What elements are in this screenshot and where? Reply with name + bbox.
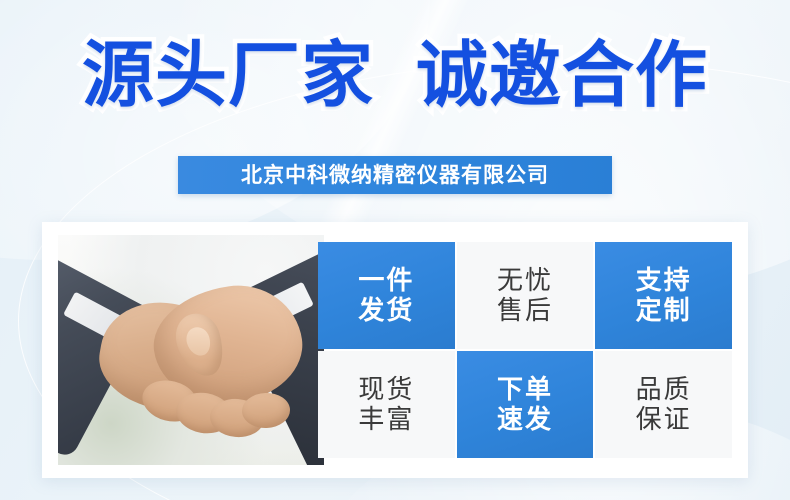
feature-cell-4[interactable]: 现货 丰富 [318,351,455,458]
feature-cell-5-line1: 下单 [497,375,553,404]
feature-cell-4-line2: 丰富 [358,405,414,434]
feature-grid: 一件 发货 无忧 售后 支持 定制 现货 丰富 下单 速发 品质 保证 [318,242,732,458]
feature-cell-2-line1: 无忧 [497,266,553,295]
page-title: 源头厂家 诚邀合作 [0,40,790,112]
feature-cell-1-line2: 发货 [358,296,414,325]
feature-cell-6-line2: 保证 [636,405,692,434]
handshake-photo [58,235,324,465]
feature-cell-3-line1: 支持 [636,266,692,295]
feature-cell-6-line1: 品质 [636,375,692,404]
company-name-bar: 北京中科微纳精密仪器有限公司 [178,156,612,194]
feature-cell-3[interactable]: 支持 定制 [595,242,732,349]
feature-cell-1-line1: 一件 [358,266,414,295]
feature-cell-4-line1: 现货 [358,375,414,404]
feature-cell-5-line2: 速发 [497,405,553,434]
feature-cell-2[interactable]: 无忧 售后 [457,242,594,349]
promo-banner: 源头厂家 诚邀合作 北京中科微纳精密仪器有限公司 一件 发货 [0,0,790,500]
feature-cell-3-line2: 定制 [636,296,692,325]
feature-cell-6[interactable]: 品质 保证 [595,351,732,458]
company-name-label: 北京中科微纳精密仪器有限公司 [241,165,549,186]
feature-cell-2-line2: 售后 [497,296,553,325]
feature-cell-5[interactable]: 下单 速发 [457,351,594,458]
content-card: 一件 发货 无忧 售后 支持 定制 现货 丰富 下单 速发 品质 保证 [42,222,748,478]
feature-cell-1[interactable]: 一件 发货 [318,242,455,349]
